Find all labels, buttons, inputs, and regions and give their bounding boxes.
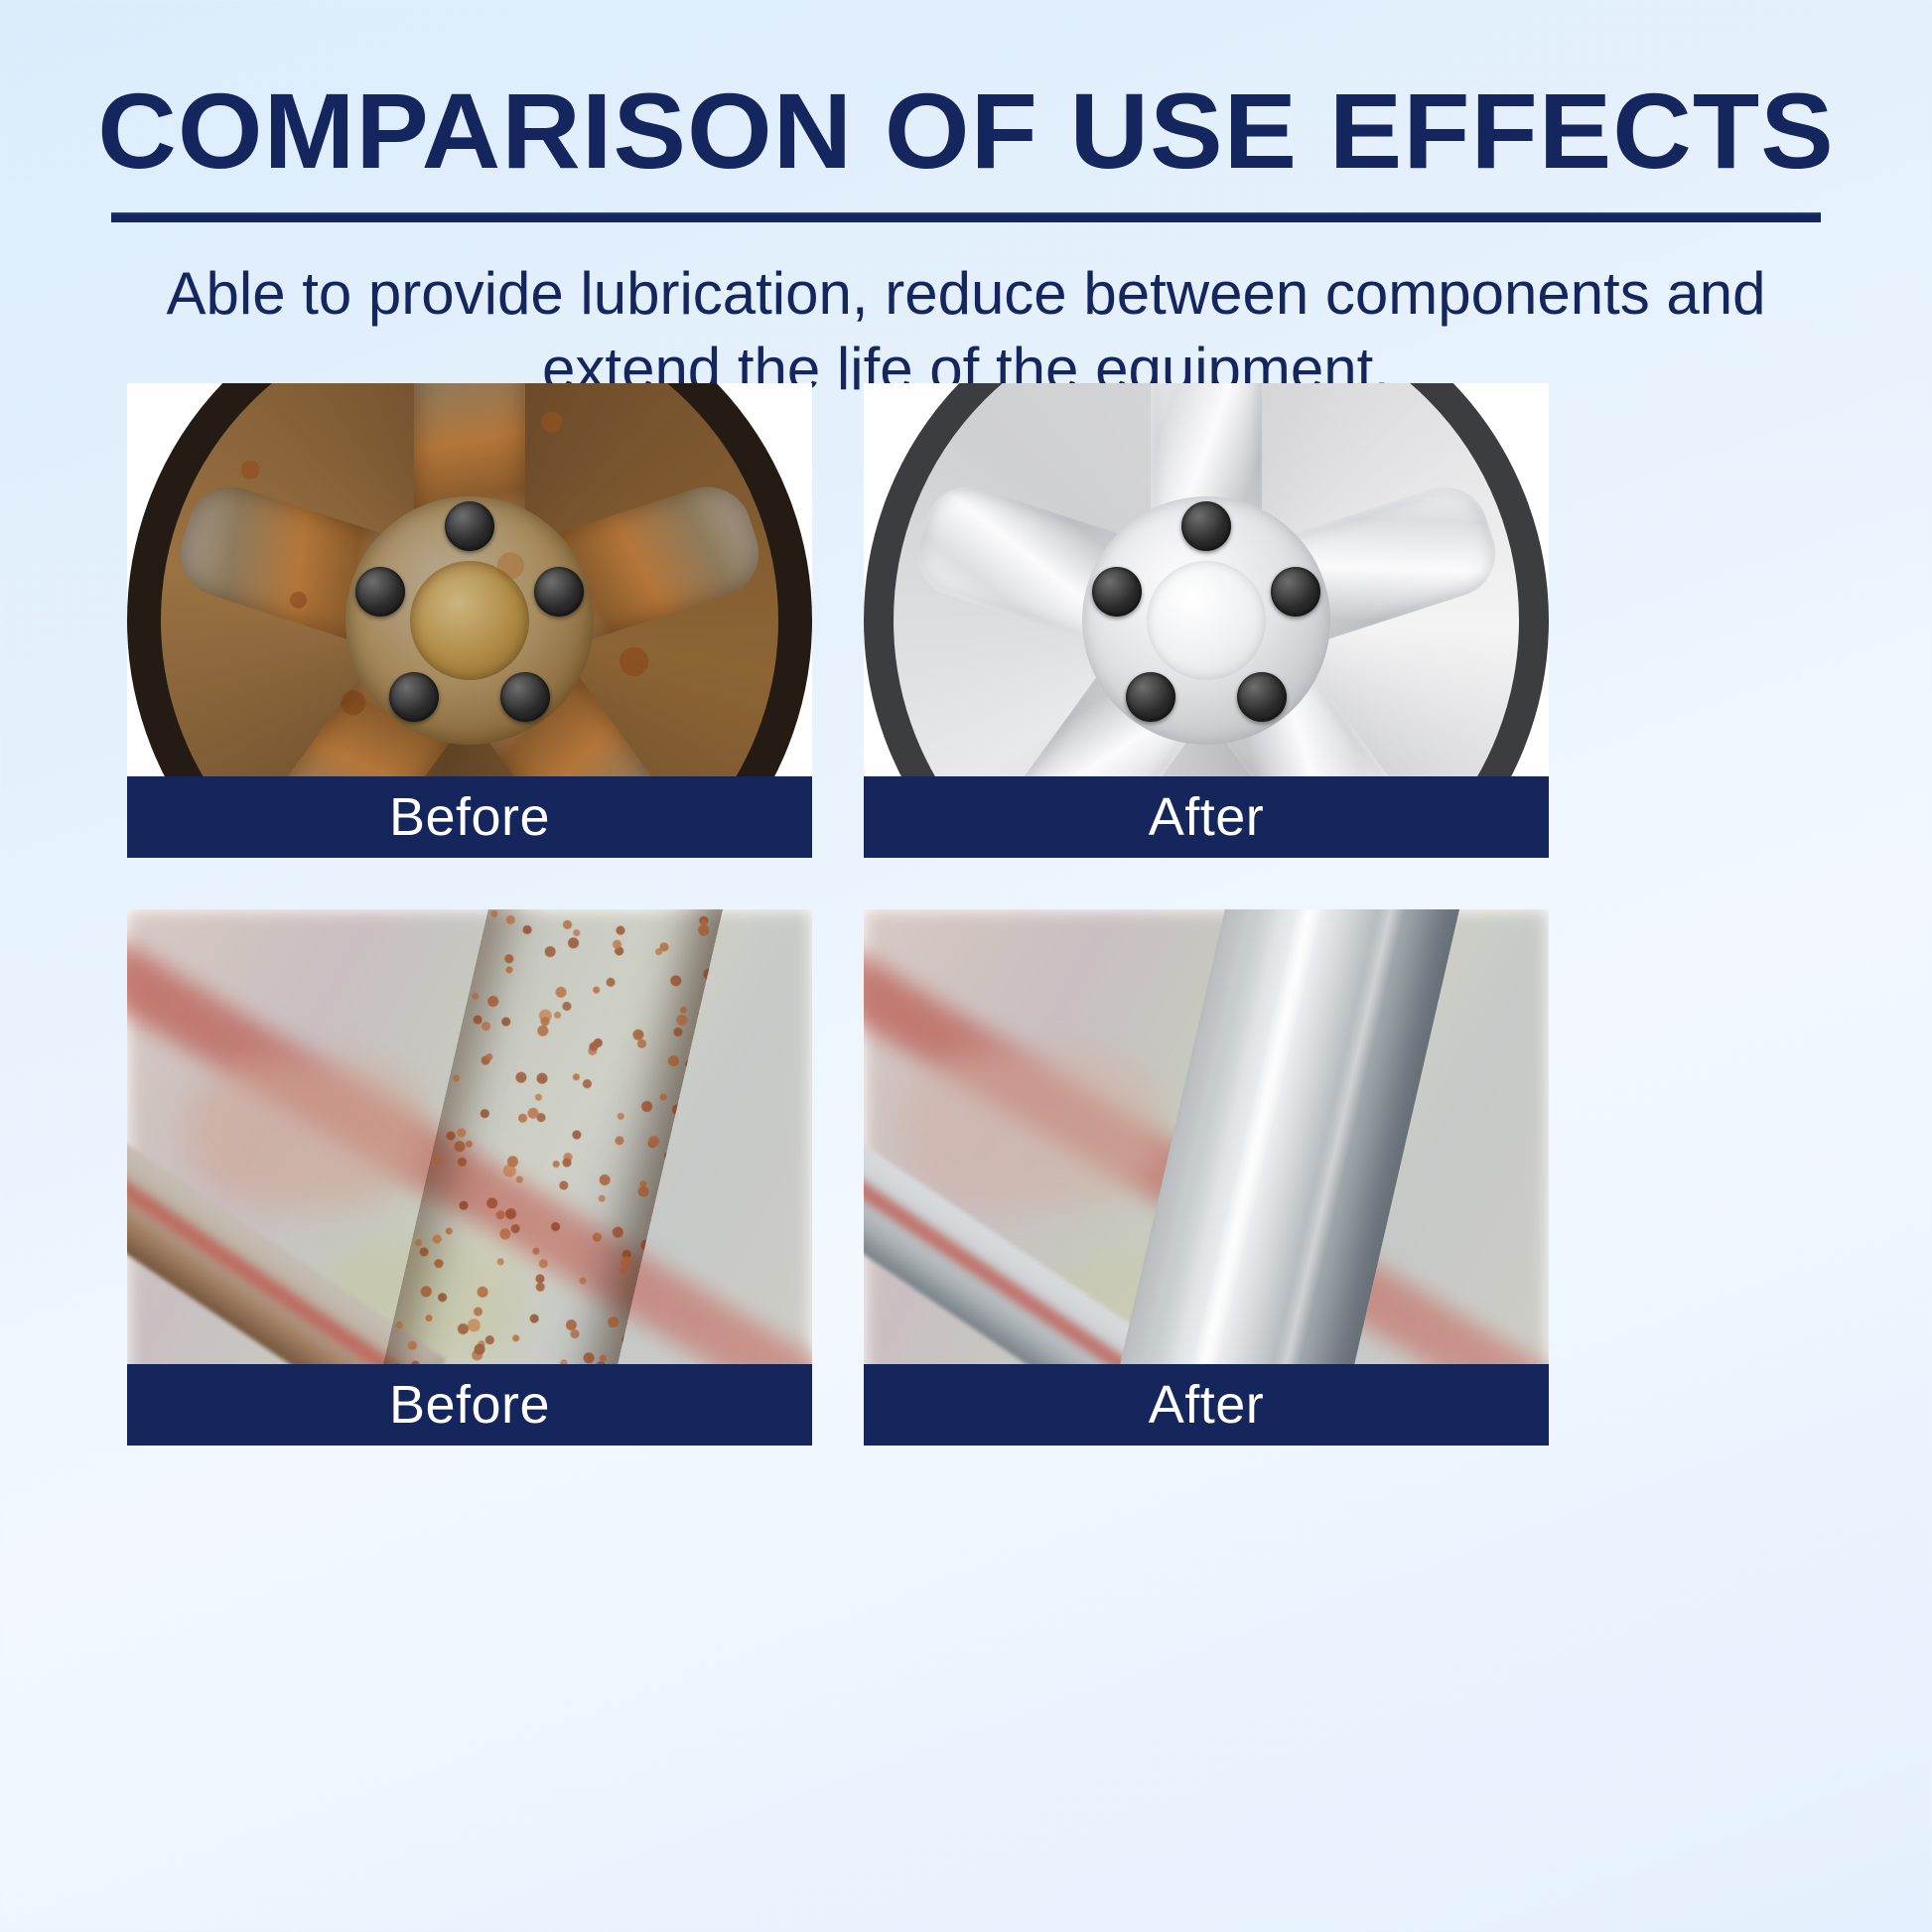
- wheel-hub-cap: [1147, 561, 1266, 680]
- floor-patch: [187, 1058, 425, 1207]
- lug-nut: [1126, 672, 1175, 722]
- caption-bar-after: After: [864, 1364, 1549, 1446]
- floor-patch: [903, 1048, 1162, 1207]
- caption-bar-before: Before: [127, 776, 812, 858]
- lug-nut: [1271, 567, 1320, 617]
- caption-bar-before: Before: [127, 1364, 812, 1446]
- lug-nut: [1181, 501, 1231, 551]
- comparison-row-1: Before: [127, 383, 1805, 858]
- caption-label: After: [1149, 790, 1265, 844]
- comparison-grid: Before: [127, 383, 1805, 1497]
- panel-before-pipe[interactable]: Before: [127, 909, 812, 1446]
- lug-nut: [1237, 672, 1287, 722]
- caption-label: Before: [389, 1378, 550, 1432]
- caption-label: Before: [389, 790, 550, 844]
- infographic-page: COMPARISON OF USE EFFECTS Able to provid…: [0, 0, 1932, 1932]
- panel-before-wheel[interactable]: Before: [127, 383, 812, 858]
- panel-after-pipe[interactable]: After: [864, 909, 1549, 1446]
- subtitle-line-1: Able to provide lubrication, reduce betw…: [152, 256, 1780, 332]
- header: COMPARISON OF USE EFFECTS Able to provid…: [0, 0, 1932, 406]
- caption-label: After: [1149, 1378, 1265, 1432]
- comparison-row-2: Before: [127, 909, 1805, 1446]
- title-divider: [111, 212, 1821, 222]
- lug-nut: [1092, 567, 1142, 617]
- page-title: COMPARISON OF USE EFFECTS: [0, 77, 1932, 185]
- panel-after-wheel[interactable]: After: [864, 383, 1549, 858]
- caption-bar-after: After: [864, 776, 1549, 858]
